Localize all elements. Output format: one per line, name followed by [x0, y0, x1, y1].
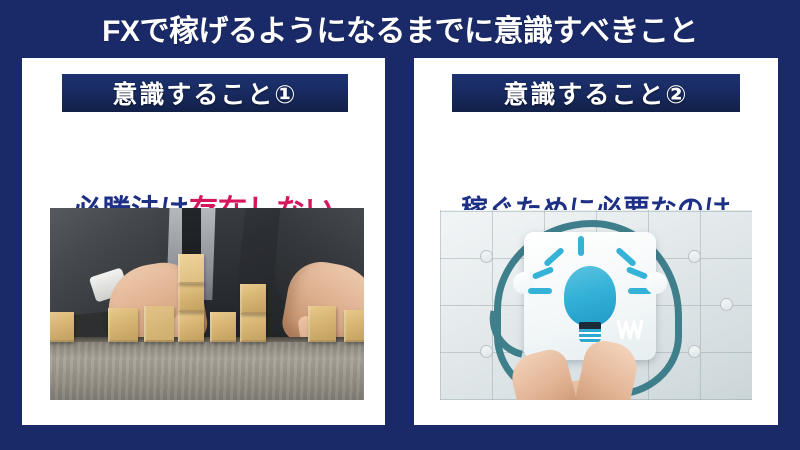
puzzle-knob — [720, 298, 733, 311]
light-ray — [528, 288, 552, 294]
puzzle-knob — [688, 345, 701, 358]
panel-1-badge-label: 意識すること① — [112, 75, 297, 111]
wooden-block — [108, 308, 138, 342]
light-ray — [578, 236, 584, 256]
wooden-block — [178, 254, 204, 284]
wooden-block — [308, 306, 336, 342]
puzzle-knob — [480, 345, 493, 358]
panel-2-photo — [440, 210, 752, 400]
panel-card-2: 意識すること② 稼ぐために必要なのは 知識と経験 — [414, 58, 778, 425]
title-bar: FXで稼げるようになるまでに意識すべきこと — [0, 0, 800, 56]
light-ray — [532, 266, 555, 280]
wooden-block — [178, 312, 204, 342]
lightbulb-puzzle-piece — [524, 232, 656, 360]
wooden-block — [240, 312, 266, 342]
wooden-block — [144, 306, 174, 342]
wooden-block — [210, 312, 236, 342]
light-ray — [615, 247, 637, 268]
wooden-block — [50, 312, 74, 342]
panel-2-badge: 意識すること② — [452, 74, 740, 112]
lightbulb-icon — [564, 266, 616, 326]
light-ray — [628, 288, 652, 294]
light-ray — [543, 247, 565, 268]
filament-icon — [616, 318, 644, 344]
puzzle-knob — [688, 250, 701, 263]
puzzle-knob — [480, 250, 493, 263]
light-ray — [626, 266, 649, 280]
wooden-block — [344, 310, 364, 342]
panel-2-badge-label: 意識すること② — [503, 75, 688, 111]
panel-1-photo — [50, 208, 364, 400]
panel-card-1: 意識すること① 必勝法は存在しない — [22, 58, 385, 425]
panel-1-badge: 意識すること① — [62, 74, 348, 112]
wooden-table — [50, 337, 364, 400]
wooden-block — [240, 284, 266, 314]
page-title: FXで稼げるようになるまでに意識すべきこと — [102, 6, 698, 50]
wooden-block — [178, 282, 204, 312]
